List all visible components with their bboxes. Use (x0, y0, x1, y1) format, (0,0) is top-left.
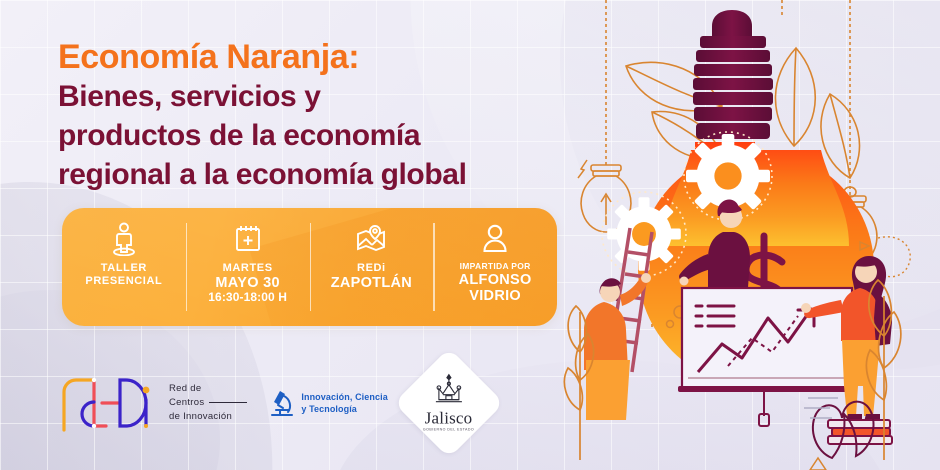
presenter-person-icon (110, 221, 138, 257)
microscope-icon (269, 388, 295, 418)
decor-mark-grey (804, 398, 838, 418)
speaker-label: IMPARTIDA POR (459, 262, 532, 272)
event-banner: Economía Naranja: Bienes, servicios y pr… (0, 0, 940, 470)
map-pin-icon (355, 221, 387, 257)
date-time: 16:30-18:00 H (208, 291, 287, 305)
orange-economy-illustration (560, 0, 940, 470)
logo-row: Red de Centros de Innovación Innovación,… (58, 364, 488, 442)
redi-text-rule (209, 402, 247, 403)
redi-text-line-2: Centros (169, 396, 204, 410)
ict-text-line-2: y Tecnología (301, 403, 387, 415)
speaker-last-name: VIDRIO (459, 288, 532, 305)
jalisco-subtitle: GOBIERNO DEL ESTADO (423, 429, 474, 433)
modality-line-1: TALLER (85, 262, 162, 275)
date-weekday: MARTES (208, 262, 287, 275)
ict-logo: Innovación, Ciencia y Tecnología (269, 388, 387, 418)
jalisco-name: Jalisco (423, 410, 474, 427)
redi-text-line-1: Red de (169, 382, 201, 396)
date-day: MAYO 30 (208, 275, 287, 292)
detail-column-speaker: IMPARTIDA POR ALFONSO VIDRIO (433, 208, 557, 326)
detail-column-modality: TALLER PRESENCIAL (62, 208, 186, 326)
calendar-plus-icon (234, 221, 262, 257)
location-network: REDi (331, 262, 412, 275)
speaker-first-name: ALFONSO (459, 272, 532, 289)
title-line-3: productos de la economía (58, 116, 578, 155)
title-line-4: regional a la economía global (58, 155, 578, 194)
redi-logo-mark (58, 372, 160, 434)
redi-text-line-3: de Innovación (169, 410, 232, 424)
modality-line-2: PRESENCIAL (85, 275, 162, 288)
redi-logo-text: Red de Centros de Innovación (169, 382, 247, 423)
jalisco-crown-crest (432, 374, 466, 404)
location-name: ZAPOTLÁN (331, 275, 412, 292)
detail-column-location: REDi ZAPOTLÁN (310, 208, 434, 326)
detail-column-date: MARTES MAYO 30 16:30-18:00 H (186, 208, 310, 326)
book-stack (828, 420, 892, 444)
user-icon (481, 221, 509, 257)
jalisco-logo: Jalisco GOBIERNO DEL ESTADO (394, 348, 504, 458)
event-details-bar: TALLER PRESENCIAL MARTES MAYO 30 16:30-1… (62, 208, 557, 326)
redi-logo: Red de Centros de Innovación (58, 372, 247, 434)
page-title: Economía Naranja: Bienes, servicios y pr… (58, 38, 578, 194)
bulb-cap (693, 10, 773, 139)
title-accent-line: Economía Naranja: (58, 38, 578, 77)
title-line-2: Bienes, servicios y (58, 77, 578, 116)
ict-text-line-1: Innovación, Ciencia (301, 391, 387, 403)
ict-logo-text: Innovación, Ciencia y Tecnología (301, 391, 387, 415)
